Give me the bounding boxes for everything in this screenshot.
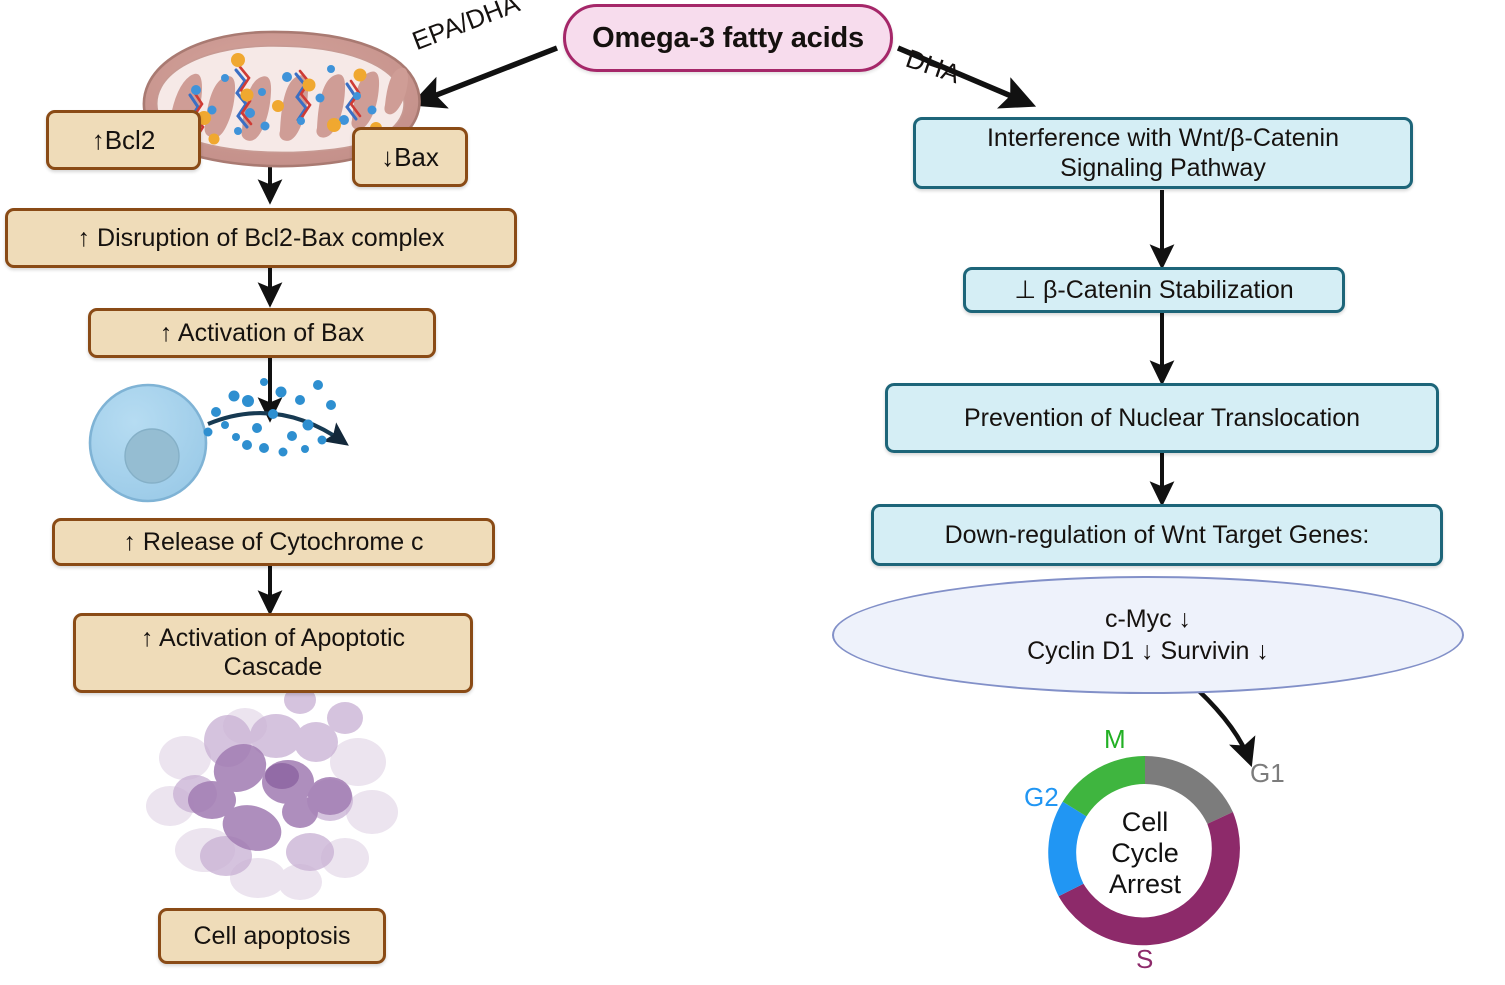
cell-cycle-label-s: S: [1136, 944, 1153, 975]
wnt-target-genes-ellipse: c-Myc ↓ Cyclin D1 ↓ Survivin ↓: [832, 576, 1464, 694]
cell-cycle-center-line3: Arrest: [1075, 868, 1215, 899]
target-gene-line2: Cyclin D1 ↓ Survivin ↓: [1027, 635, 1269, 667]
arrow-epa-dha: [416, 48, 557, 103]
box-interference-wnt-line1: Interference with Wnt/β-Catenin: [975, 123, 1351, 154]
box-beta-catenin-stabilization-label: ⊥ β-Catenin Stabilization: [1002, 275, 1305, 306]
box-interference-wnt-line2: Signaling Pathway: [1048, 153, 1278, 184]
box-prevention-nuclear-translocation: Prevention of Nuclear Translocation: [885, 383, 1439, 453]
box-disruption-bcl2-bax: ↑ Disruption of Bcl2-Bax complex: [5, 208, 517, 268]
target-gene-line1: c-Myc ↓: [1105, 603, 1191, 635]
box-release-cytochrome-c: ↑ Release of Cytochrome c: [52, 518, 495, 566]
box-apoptotic-cascade-line2: Cascade: [214, 653, 333, 682]
box-downregulation-wnt-genes: Down-regulation of Wnt Target Genes:: [871, 504, 1443, 566]
box-downregulation-wnt-genes-label: Down-regulation of Wnt Target Genes:: [933, 520, 1382, 551]
box-activation-of-bax: ↑ Activation of Bax: [88, 308, 436, 358]
box-cell-apoptosis: Cell apoptosis: [158, 908, 386, 964]
omega3-title-pill: Omega-3 fatty acids: [563, 4, 893, 72]
cell-cycle-label-g1: G1: [1250, 758, 1285, 789]
apoptotic-cell-illustration: [146, 686, 398, 900]
cell-cycle-center-line1: Cell: [1075, 807, 1215, 838]
omega3-title-label: Omega-3 fatty acids: [592, 22, 864, 55]
box-disruption-bcl2-bax-label: ↑ Disruption of Bcl2-Bax complex: [68, 224, 455, 253]
box-beta-catenin-stabilization: ⊥ β-Catenin Stabilization: [963, 267, 1345, 313]
box-release-cytochrome-c-label: ↑ Release of Cytochrome c: [113, 528, 433, 557]
box-activation-of-bax-label: ↑ Activation of Bax: [150, 319, 374, 348]
tag-bax-label: ↓Bax: [371, 142, 449, 172]
cytochrome-c-release-illustration: [90, 378, 345, 501]
box-apoptotic-cascade: ↑ Activation of Apoptotic Cascade: [73, 613, 473, 693]
cell-cycle-center-text: Cell Cycle Arrest: [1075, 807, 1215, 899]
box-apoptotic-cascade-line1: ↑ Activation of Apoptotic: [131, 624, 415, 653]
tag-bcl2: ↑Bcl2: [46, 110, 201, 170]
box-prevention-nuclear-translocation-label: Prevention of Nuclear Translocation: [952, 403, 1372, 434]
cell-cycle-donut-wrapper: Cell Cycle Arrest: [1030, 738, 1260, 968]
tag-bax: ↓Bax: [352, 127, 468, 187]
cell-cycle-center-line2: Cycle: [1075, 838, 1215, 869]
box-cell-apoptosis-label: Cell apoptosis: [183, 922, 360, 951]
cell-cycle-label-m: M: [1104, 724, 1126, 755]
diagram-canvas: Omega-3 fatty acids EPA/DHA DHA ↑Bcl2 ↓B…: [0, 0, 1505, 985]
box-interference-wnt: Interference with Wnt/β-Catenin Signalin…: [913, 117, 1413, 189]
tag-bcl2-label: ↑Bcl2: [82, 125, 166, 155]
cell-cycle-label-g2: G2: [1024, 782, 1059, 813]
